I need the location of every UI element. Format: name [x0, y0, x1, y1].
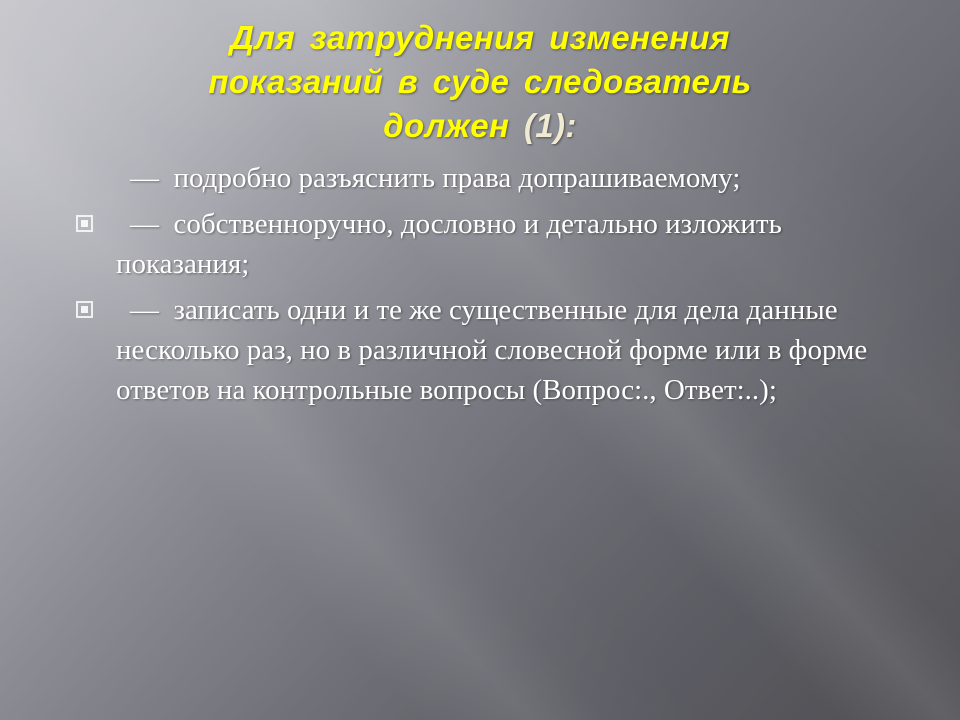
list-item-body: подробно разъяснить права допрашиваемому…	[159, 162, 740, 194]
slide-canvas: Для затруднения изменения показаний в су…	[0, 0, 960, 720]
list-item: — подробно разъяснить права допрашиваемо…	[64, 158, 900, 198]
title-line-2: показаний в суде следователь	[208, 63, 751, 100]
list-item: — собственноручно, дословно и детально и…	[64, 204, 900, 284]
square-bullet-icon	[76, 215, 93, 232]
slide-title: Для затруднения изменения показаний в су…	[96, 16, 864, 148]
em-dash: —	[130, 208, 159, 240]
em-dash: —	[130, 294, 159, 326]
slide-content: Для затруднения изменения показаний в су…	[0, 0, 960, 720]
list-item-body: собственноручно, дословно и детально изл…	[116, 208, 789, 280]
list-item-text: — подробно разъяснить права допрашиваемо…	[116, 158, 900, 198]
square-bullet-icon	[76, 301, 93, 318]
list-item-text: — записать одни и те же существенные для…	[116, 290, 900, 410]
list-item-text: — собственноручно, дословно и детально и…	[116, 204, 900, 284]
title-line-1: Для затруднения изменения	[230, 19, 730, 56]
title-counter: (1):	[524, 107, 577, 144]
list-item-body: записать одни и те же существенные для д…	[116, 294, 875, 406]
list-item: — записать одни и те же существенные для…	[64, 290, 900, 410]
bullet-list: — подробно разъяснить права допрашиваемо…	[64, 158, 900, 416]
title-line-3: должен	[383, 107, 524, 144]
em-dash: —	[130, 162, 159, 194]
